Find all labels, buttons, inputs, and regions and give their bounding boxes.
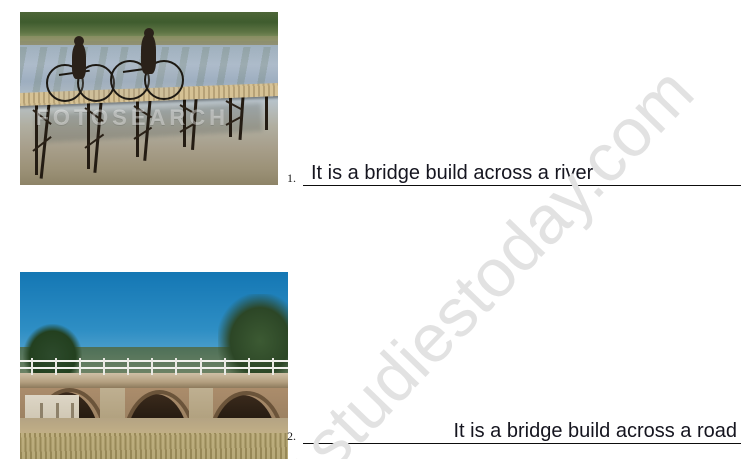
answer-text-1: It is a bridge build across a river xyxy=(311,163,593,185)
photo2-rail-post xyxy=(55,358,57,375)
photo2-rail-post xyxy=(272,358,274,375)
photo2-rail-post xyxy=(151,358,153,375)
photo2-rail-post xyxy=(200,358,202,375)
stone-arch-bridge-photo xyxy=(20,272,288,459)
photo1-embedded-watermark: FOTOSEARCH xyxy=(35,105,229,131)
answer-row-2: 2. It is a bridge build across a road xyxy=(287,421,741,444)
photo1-person xyxy=(72,43,86,79)
photo2-grass xyxy=(20,433,288,459)
photo1-person xyxy=(141,34,156,74)
answer-blank-2[interactable]: It is a bridge build across a road xyxy=(303,421,741,444)
photo2-rail-post xyxy=(224,358,226,375)
answer-blank-1[interactable]: It is a bridge build across a river xyxy=(303,163,741,186)
photo2-roadway xyxy=(20,373,288,388)
photo2-rail-post xyxy=(248,358,250,375)
answer-row-1: 1. It is a bridge build across a river xyxy=(287,163,741,186)
photo2-rail-post xyxy=(103,358,105,375)
photo2-rail-post xyxy=(79,358,81,375)
answer-text-2: It is a bridge build across a road xyxy=(454,421,741,443)
bamboo-bridge-photo: FOTOSEARCH xyxy=(20,12,278,185)
site-watermark-text: w.studiestoday.com xyxy=(244,53,709,459)
photo2-rail-post xyxy=(175,358,177,375)
worksheet-page: FOTOSEARCH xyxy=(0,0,741,459)
photo2-rail-post xyxy=(31,358,33,375)
photo2-railing xyxy=(20,358,288,375)
answer-number-1: 1. xyxy=(287,172,303,186)
photo1-person-head xyxy=(144,28,154,38)
photo2-rail-post xyxy=(127,358,129,375)
answer-number-2: 2. xyxy=(287,430,303,444)
